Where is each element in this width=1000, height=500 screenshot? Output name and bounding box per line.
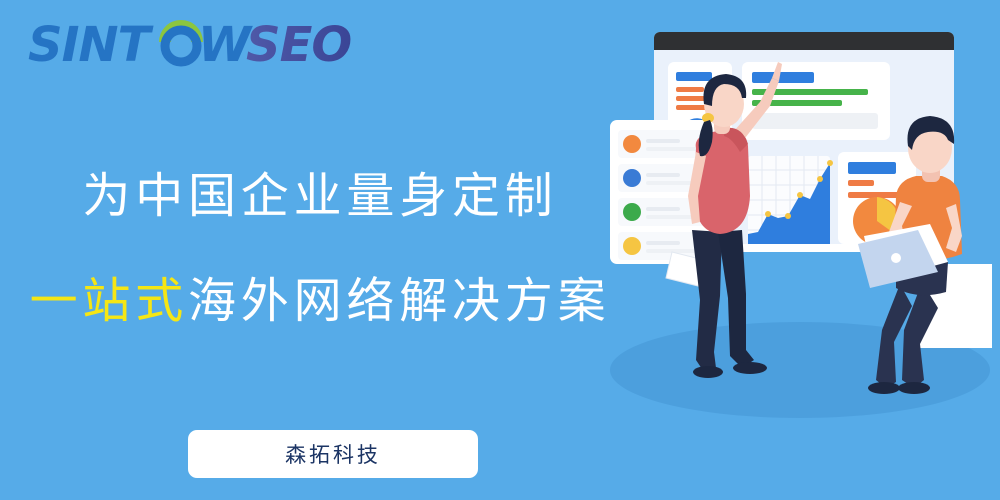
dot-green-icon (623, 203, 641, 221)
card-bar-orange-1 (676, 87, 704, 92)
woman-shoe-back (693, 366, 723, 378)
card-placeholder-block (752, 113, 878, 129)
logo-text-w: W (198, 17, 253, 70)
card-bar-orange-1 (848, 180, 874, 186)
laptop-logo-icon (891, 253, 901, 263)
illustration-svg (600, 0, 1000, 500)
dot-orange-icon (623, 135, 641, 153)
company-cta-button[interactable]: 森拓科技 (188, 430, 478, 478)
dot-blue-icon (623, 169, 641, 187)
man-shoe-front (898, 382, 930, 394)
logo-text-seo: SEO (246, 17, 351, 70)
man-shoe-back (868, 382, 900, 394)
sintowseo-logo[interactable]: SINT W SEO (28, 16, 368, 70)
woman-shoe-front (733, 362, 767, 374)
dot-yellow-icon (623, 237, 641, 255)
logo-o-ring-icon (165, 30, 197, 62)
browser-titlebar-fill (654, 42, 954, 50)
headline-secondary: 一站式海外网络解决方案 (0, 277, 640, 325)
headline-primary: 为中国企业量身定制 (0, 172, 640, 220)
headline-rest-text: 海外网络解决方案 (188, 273, 610, 329)
headline-accent-text: 一站式 (30, 273, 188, 329)
analytics-dashboard-illustration (600, 0, 1000, 500)
promo-banner: SINT W SEO 为中国企业量身定制 一站式海外网络解决方案 森拓科技 (0, 0, 1000, 500)
card-bar-orange-2 (848, 192, 900, 198)
card-bar-blue (848, 162, 896, 174)
logo-svg: SINT W SEO (28, 16, 368, 70)
card-bar-blue (676, 72, 712, 81)
logo-text-sint: SINT (28, 17, 154, 70)
growth-area-chart (748, 156, 833, 244)
card-bar-blue (752, 72, 814, 83)
